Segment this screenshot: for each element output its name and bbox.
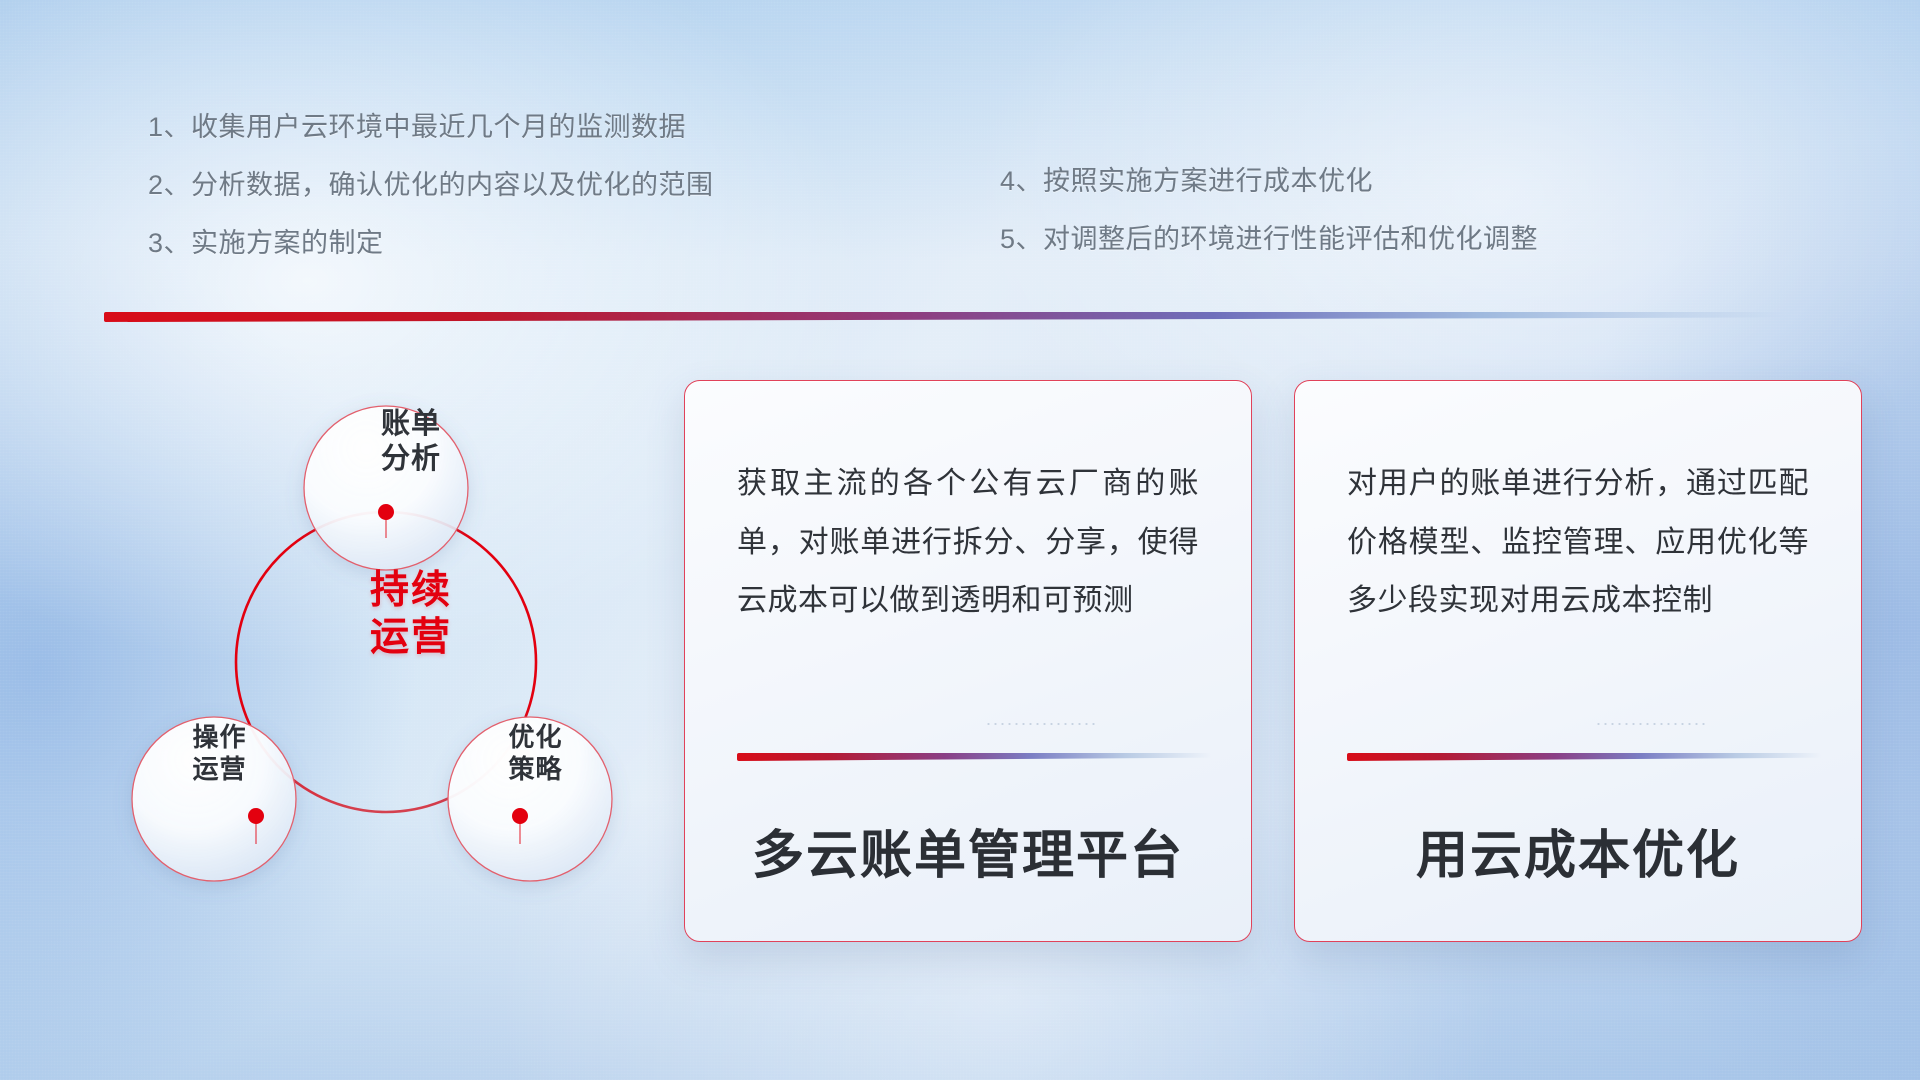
card-dot-texture (1595, 721, 1705, 727)
process-steps-left-column: 1、收集用户云环境中最近几个月的监测数据 2、分析数据，确认优化的内容以及优化的… (148, 98, 714, 272)
venn-label-continuous-operations: 持续 运营 (311, 568, 511, 662)
venn-node-dot-bottom-right (512, 808, 528, 824)
section-divider-bar (104, 312, 1784, 322)
card-title: 多云账单管理平台 (685, 813, 1251, 888)
card-description: 对用户的账单进行分析，通过匹配价格模型、监控管理、应用优化等多少段实现对用云成本… (1347, 455, 1809, 631)
venn-label-billing-analysis: 账单 分析 (316, 407, 506, 478)
card-title: 用云成本优化 (1295, 813, 1861, 888)
card-body: 对用户的账单进行分析，通过匹配价格模型、监控管理、应用优化等多少段实现对用云成本… (1295, 381, 1861, 631)
process-step-5: 5、对调整后的环境进行性能评估和优化调整 (1000, 210, 1538, 268)
process-step-2: 2、分析数据，确认优化的内容以及优化的范围 (148, 156, 714, 214)
card-dot-texture (985, 721, 1095, 727)
card-description: 获取主流的各个公有云厂商的账单，对账单进行拆分、分享，使得云成本可以做到透明和可… (737, 455, 1199, 631)
venn-label-optimization-strategy: 优化 策略 (448, 722, 623, 785)
card-accent-rule-fill (737, 753, 1211, 761)
venn-node-dot-top (378, 504, 394, 520)
process-steps-right-column: 4、按照实施方案进行成本优化 5、对调整后的环境进行性能评估和优化调整 (1000, 152, 1538, 268)
card-accent-rule-fill (1347, 753, 1821, 761)
card-body: 获取主流的各个公有云厂商的账单，对账单进行拆分、分享，使得云成本可以做到透明和可… (685, 381, 1251, 631)
process-step-1: 1、收集用户云环境中最近几个月的监测数据 (148, 98, 714, 156)
process-step-3: 3、实施方案的制定 (148, 214, 714, 272)
continuous-operations-venn-diagram: 账单 分析 操作 运营 优化 策略 持续 运营 (96, 352, 676, 952)
card-accent-rule (1347, 753, 1821, 761)
feature-card-multi-cloud-billing-platform[interactable]: 获取主流的各个公有云厂商的账单，对账单进行拆分、分享，使得云成本可以做到透明和可… (684, 380, 1252, 942)
venn-label-operations: 操作 运营 (132, 722, 307, 785)
divider-gradient-stripe (104, 312, 1784, 322)
card-accent-rule (737, 753, 1211, 761)
process-step-4: 4、按照实施方案进行成本优化 (1000, 152, 1538, 210)
feature-card-cloud-cost-optimization[interactable]: 对用户的账单进行分析，通过匹配价格模型、监控管理、应用优化等多少段实现对用云成本… (1294, 380, 1862, 942)
venn-node-dot-bottom-left (248, 808, 264, 824)
